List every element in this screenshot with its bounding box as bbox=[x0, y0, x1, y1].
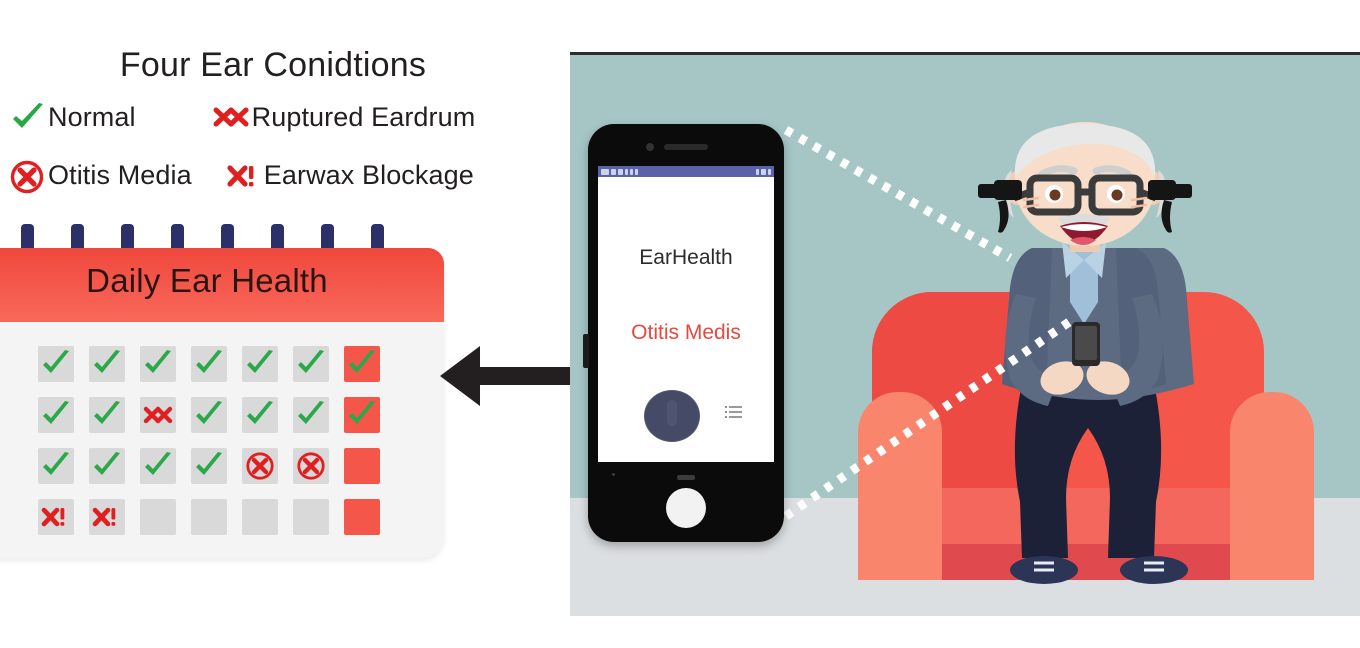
calendar-cell[interactable] bbox=[336, 389, 387, 440]
calendar-cell-pad bbox=[140, 346, 176, 382]
calendar-title: Daily Ear Health bbox=[0, 262, 444, 300]
list-icon[interactable] bbox=[725, 406, 745, 422]
calendar-cell-pad bbox=[140, 397, 176, 433]
couch-armrest-left bbox=[858, 392, 942, 580]
check-icon bbox=[143, 350, 173, 378]
calendar-cell-pad bbox=[344, 346, 380, 382]
calendar-cell-pad bbox=[191, 499, 227, 535]
calendar-cell[interactable] bbox=[81, 491, 132, 542]
calendar-cell-pad bbox=[344, 448, 380, 484]
calendar-cell[interactable] bbox=[81, 389, 132, 440]
calendar-cell[interactable] bbox=[183, 338, 234, 389]
calendar-cell[interactable] bbox=[132, 491, 183, 542]
legend-item-earwax-blockage: Earwax Blockage bbox=[224, 158, 474, 192]
legend-item-ruptured-eardrum: Ruptured Eardrum bbox=[212, 100, 476, 134]
message-icon bbox=[618, 169, 623, 175]
check-icon bbox=[194, 350, 224, 378]
list-row bbox=[725, 406, 745, 408]
calendar-cell[interactable] bbox=[234, 491, 285, 542]
circled-x-icon bbox=[245, 451, 275, 481]
calendar-cell-pad bbox=[293, 499, 329, 535]
calendar-cell-pad bbox=[191, 346, 227, 382]
home-button[interactable] bbox=[666, 488, 706, 528]
clock-icon bbox=[635, 169, 638, 175]
legend-label-normal: Normal bbox=[48, 102, 136, 133]
calendar-cell[interactable] bbox=[81, 440, 132, 491]
calendar-cell[interactable] bbox=[183, 491, 234, 542]
legend-label-otitis-media: Otitis Media bbox=[48, 160, 192, 191]
calendar-cell[interactable] bbox=[336, 338, 387, 389]
legend-item-otitis-media: Otitis Media bbox=[8, 158, 192, 192]
calendar-cell[interactable] bbox=[30, 338, 81, 389]
calendar-cell-pad bbox=[38, 448, 74, 484]
calendar-cell-pad bbox=[344, 499, 380, 535]
calendar-cell[interactable] bbox=[285, 440, 336, 491]
check-icon bbox=[347, 401, 377, 429]
calendar-cell[interactable] bbox=[132, 389, 183, 440]
calendar-cell-pad bbox=[89, 346, 125, 382]
calendar-cell[interactable] bbox=[30, 440, 81, 491]
calendar-cell-pad bbox=[140, 499, 176, 535]
check-icon bbox=[92, 452, 122, 480]
calendar-cell[interactable] bbox=[234, 338, 285, 389]
list-row bbox=[725, 411, 745, 413]
microphone-icon bbox=[667, 400, 677, 426]
calendar-cell-pad bbox=[293, 448, 329, 484]
circled-x-icon bbox=[296, 451, 326, 481]
phone-side-button[interactable] bbox=[583, 334, 589, 368]
calendar-cell[interactable] bbox=[336, 491, 387, 542]
calendar-cell[interactable] bbox=[285, 491, 336, 542]
circled-red-x-icon bbox=[8, 158, 48, 192]
check-icon bbox=[41, 452, 71, 480]
calendar-cell[interactable] bbox=[132, 440, 183, 491]
status-bar-right-icons bbox=[756, 169, 771, 175]
calendar-cell-pad bbox=[242, 499, 278, 535]
calendar-cell[interactable] bbox=[30, 389, 81, 440]
check-icon bbox=[143, 452, 173, 480]
legend-row-2: Otitis Media Earwax Blockage bbox=[8, 158, 474, 192]
check-icon bbox=[194, 401, 224, 429]
app-title: EarHealth bbox=[598, 246, 774, 270]
calendar-cell[interactable] bbox=[30, 491, 81, 542]
earpiece-speaker bbox=[664, 144, 708, 150]
check-icon bbox=[296, 401, 326, 429]
microphone-button[interactable] bbox=[644, 390, 700, 442]
list-row bbox=[725, 416, 745, 418]
check-icon bbox=[92, 401, 122, 429]
legend-label-earwax-blockage: Earwax Blockage bbox=[264, 160, 474, 191]
left-arrow-icon bbox=[440, 343, 590, 409]
vibrate-icon bbox=[756, 169, 759, 175]
list-line bbox=[729, 406, 742, 408]
phone-speaker-slot bbox=[677, 475, 695, 480]
double-x-icon bbox=[143, 404, 173, 426]
calendar-cell[interactable] bbox=[285, 338, 336, 389]
check-icon bbox=[245, 350, 275, 378]
calendar-cell[interactable] bbox=[234, 440, 285, 491]
time-label bbox=[768, 169, 771, 175]
figure-canvas: Four Ear Conidtions Normal bbox=[0, 0, 1360, 648]
calendar-cell[interactable] bbox=[183, 389, 234, 440]
list-line bbox=[729, 416, 742, 418]
calendar-cell-pad bbox=[89, 448, 125, 484]
calendar-cell-pad bbox=[38, 397, 74, 433]
calendar-cell-pad bbox=[293, 346, 329, 382]
phone-pinhole bbox=[612, 473, 615, 476]
double-red-x-icon bbox=[212, 100, 252, 134]
calendar-header: Daily Ear Health bbox=[0, 248, 444, 322]
list-line bbox=[729, 411, 742, 413]
x-exclamation-icon bbox=[41, 504, 71, 530]
legend-title: Four Ear Conidtions bbox=[0, 46, 546, 85]
calendar-body bbox=[0, 322, 444, 558]
daily-ear-health-calendar: Daily Ear Health bbox=[0, 248, 446, 558]
calendar-cell-pad bbox=[191, 448, 227, 484]
phone-chin bbox=[588, 464, 784, 542]
calendar-cell[interactable] bbox=[234, 389, 285, 440]
list-bullet bbox=[725, 411, 727, 413]
signal-icon bbox=[601, 169, 609, 175]
status-bar-left-icons bbox=[601, 169, 638, 175]
wifi-icon bbox=[611, 169, 616, 175]
sync-icon bbox=[630, 169, 633, 175]
diagnosis-label: Otitis Medis bbox=[598, 321, 774, 345]
status-bar bbox=[598, 166, 774, 177]
x-exclamation-icon bbox=[92, 504, 122, 530]
calendar-cell-pad bbox=[140, 448, 176, 484]
list-bullet bbox=[725, 406, 727, 408]
calendar-cell-pad bbox=[89, 499, 125, 535]
list-bullet bbox=[725, 416, 727, 418]
check-icon bbox=[41, 401, 71, 429]
calendar-cell[interactable] bbox=[132, 338, 183, 389]
legend-row-1: Normal Ruptured Eardrum bbox=[8, 100, 475, 134]
legend-item-normal: Normal bbox=[8, 100, 136, 134]
calendar-cell[interactable] bbox=[336, 440, 387, 491]
calendar-cell[interactable] bbox=[285, 389, 336, 440]
couch-armrest-right bbox=[1230, 392, 1314, 580]
battery-icon bbox=[761, 169, 766, 175]
calendar-cell-pad bbox=[242, 346, 278, 382]
calendar-cell-pad bbox=[38, 499, 74, 535]
green-check-icon bbox=[8, 100, 48, 134]
red-x-exclamation-icon bbox=[224, 158, 264, 192]
smartphone-mockup: EarHealth Otitis Medis bbox=[588, 124, 784, 542]
calendar-cell-pad bbox=[242, 448, 278, 484]
calendar-cell-pad bbox=[89, 397, 125, 433]
calendar-cell[interactable] bbox=[81, 338, 132, 389]
check-icon bbox=[41, 350, 71, 378]
calendar-cell[interactable] bbox=[183, 440, 234, 491]
front-camera-icon bbox=[646, 143, 654, 151]
check-icon bbox=[92, 350, 122, 378]
calendar-cell-pad bbox=[191, 397, 227, 433]
legend-label-ruptured-eardrum: Ruptured Eardrum bbox=[252, 102, 476, 133]
phone-screen: EarHealth Otitis Medis bbox=[598, 166, 774, 462]
check-icon bbox=[296, 350, 326, 378]
calendar-cell-pad bbox=[38, 346, 74, 382]
check-icon bbox=[194, 452, 224, 480]
calendar-cell-pad bbox=[344, 397, 380, 433]
check-icon bbox=[245, 401, 275, 429]
calendar-cell-pad bbox=[242, 397, 278, 433]
check-icon bbox=[347, 350, 377, 378]
calendar-cell-pad bbox=[293, 397, 329, 433]
calendar-grid bbox=[30, 338, 387, 542]
alert-icon bbox=[625, 169, 628, 175]
elderly-man-on-couch bbox=[958, 122, 1238, 592]
